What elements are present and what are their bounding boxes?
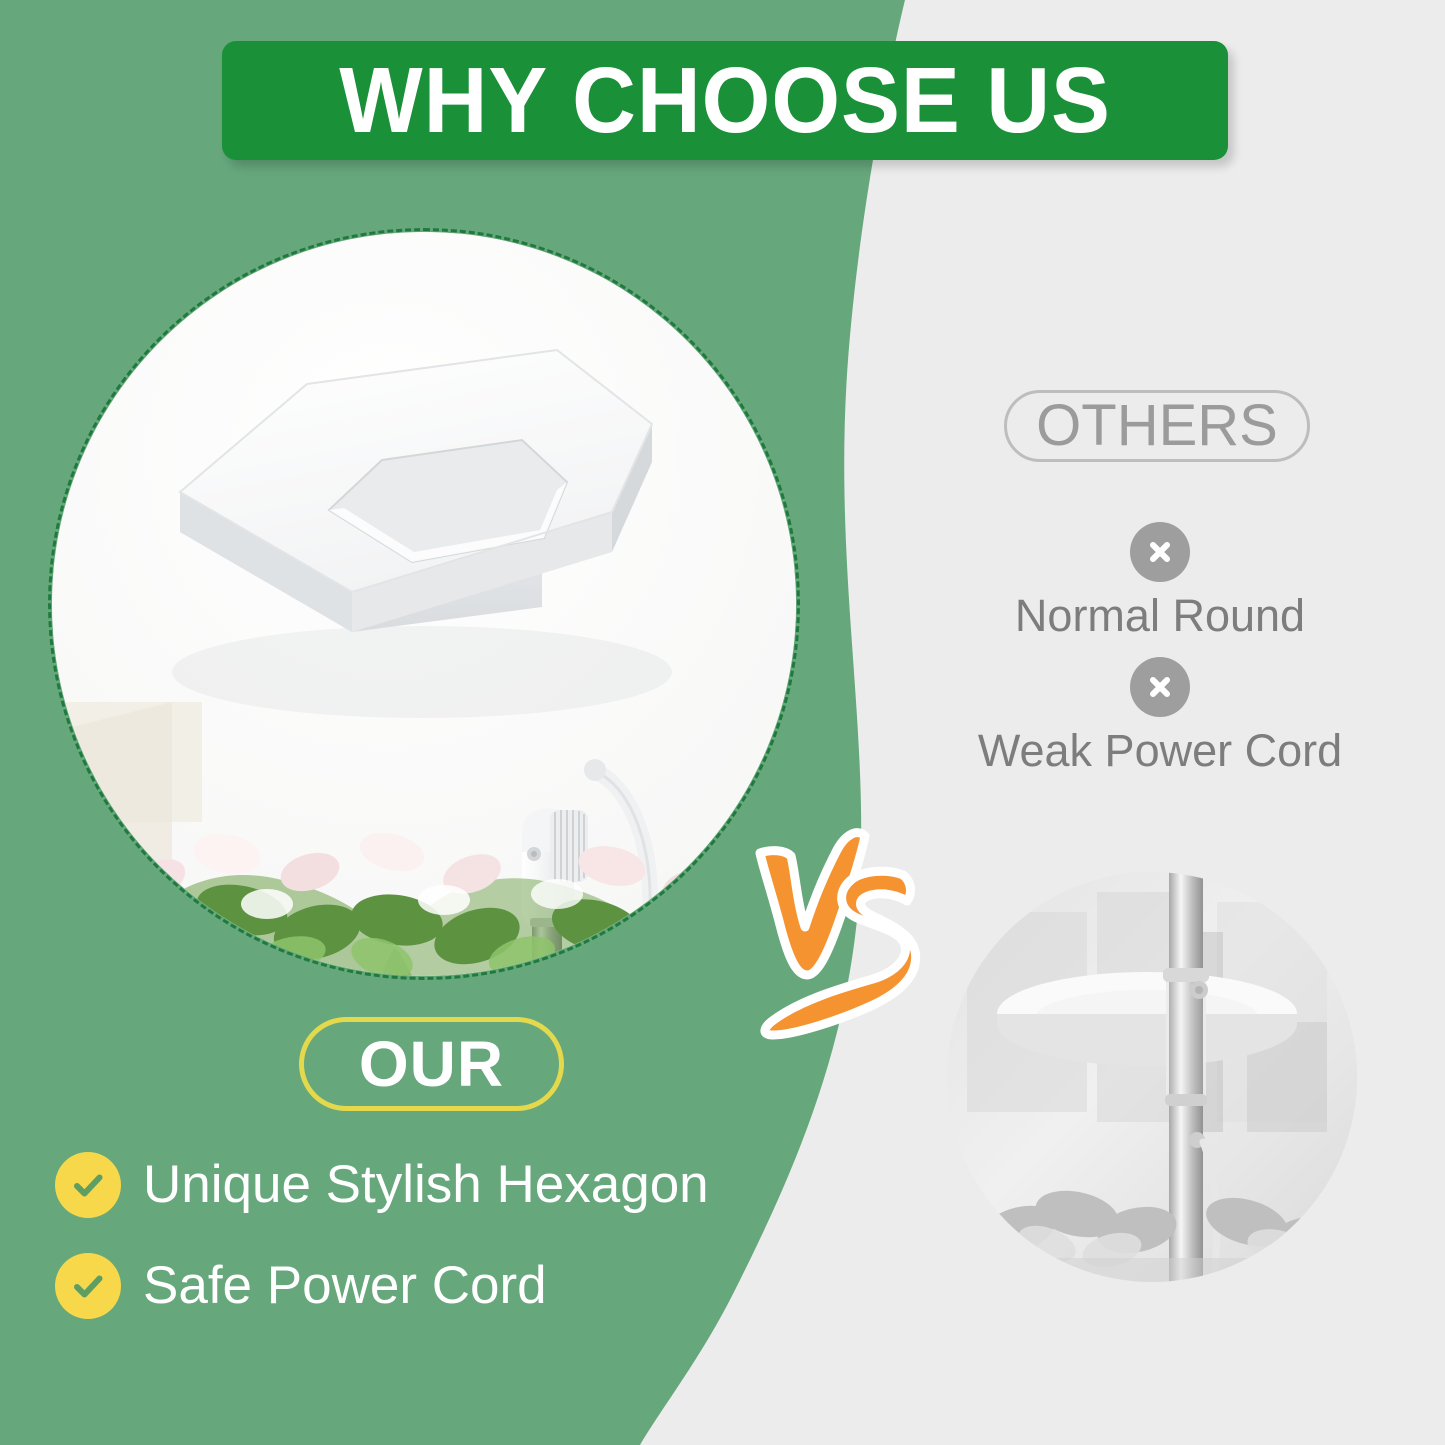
- list-item: Unique Stylish Hexagon: [55, 1152, 815, 1218]
- vs-icon: [733, 823, 948, 1053]
- list-item: Normal Round: [940, 522, 1380, 639]
- check-icon: [55, 1152, 121, 1218]
- others-drawback-label: Normal Round: [940, 592, 1380, 639]
- header-banner: WHY CHOOSE US: [222, 41, 1228, 160]
- others-badge: OTHERS: [1004, 390, 1310, 462]
- our-feature-list: Unique Stylish Hexagon Safe Power Cord: [55, 1152, 815, 1354]
- our-product-photo: [48, 228, 800, 980]
- page-title: WHY CHOOSE US: [339, 54, 1111, 147]
- our-feature-label: Safe Power Cord: [143, 1258, 547, 1314]
- list-item: Safe Power Cord: [55, 1253, 815, 1319]
- our-feature-label: Unique Stylish Hexagon: [143, 1157, 709, 1213]
- others-drawback-list: Normal Round Weak Power Cord: [940, 522, 1380, 793]
- x-icon: [1130, 522, 1190, 582]
- others-photo-illustration: [947, 872, 1357, 1282]
- our-photo-dashed-border: [48, 228, 800, 980]
- others-drawback-label: Weak Power Cord: [940, 727, 1380, 774]
- list-item: Weak Power Cord: [940, 657, 1380, 774]
- others-product-photo: [947, 872, 1357, 1282]
- why-choose-us-infographic: WHY CHOOSE US: [0, 0, 1445, 1445]
- check-icon: [55, 1253, 121, 1319]
- x-icon: [1130, 657, 1190, 717]
- our-badge-label: OUR: [359, 1032, 504, 1096]
- others-badge-label: OTHERS: [1036, 397, 1278, 455]
- our-badge: OUR: [299, 1017, 564, 1111]
